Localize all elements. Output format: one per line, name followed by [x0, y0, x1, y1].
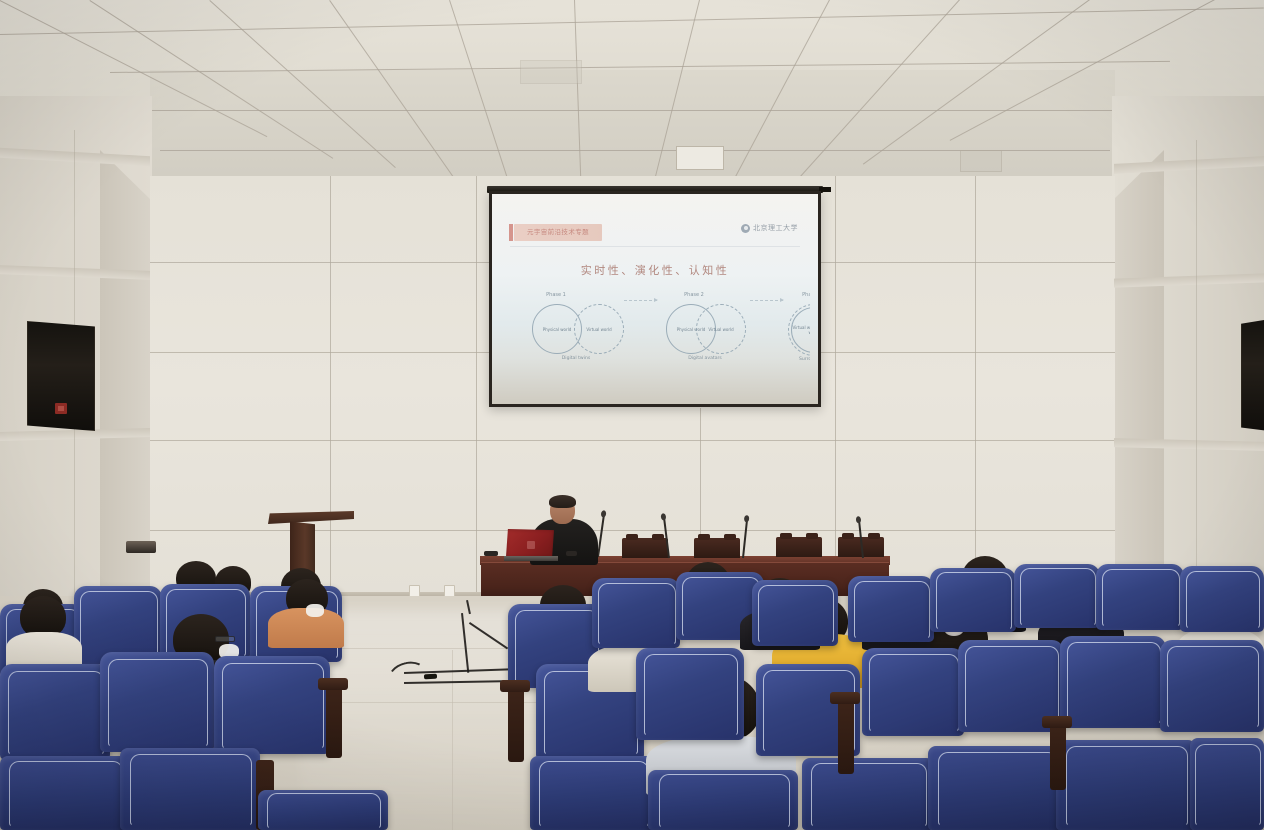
seat-armrest — [838, 700, 854, 774]
auditorium-seat[interactable] — [636, 648, 744, 740]
seat-armrest-pad — [830, 692, 860, 704]
lecture-hall-photo: 元宇宙前沿技术专题 北京理工大学 实时性、演化性、认知性 Phase 1 Phy… — [0, 0, 1264, 830]
phase-3-caption: Surrounding — [783, 357, 810, 362]
auditorium-seat[interactable] — [802, 758, 934, 830]
projection-screen: 元宇宙前沿技术专题 北京理工大学 实时性、演化性、认知性 Phase 1 Phy… — [489, 191, 821, 407]
ceiling-vent — [960, 150, 1002, 172]
phase-1-circle-virtual: Virtual world — [574, 304, 624, 354]
wall-seam — [1196, 140, 1197, 610]
ceiling-vent — [520, 60, 582, 84]
slide-header-band: 元宇宙前沿技术专题 — [514, 224, 602, 241]
seat-armrest-pad — [318, 678, 348, 690]
wall-seam — [150, 440, 1115, 441]
auditorium-seat[interactable] — [928, 746, 1066, 830]
slide-header-band-text: 元宇宙前沿技术专题 — [516, 226, 600, 236]
screen-surface: 元宇宙前沿技术专题 北京理工大学 实时性、演化性、认知性 Phase 1 Phy… — [492, 194, 818, 404]
table-device — [484, 551, 498, 556]
wall-seam — [835, 176, 836, 596]
seat-armrest — [508, 688, 524, 762]
auditorium-seat[interactable] — [0, 756, 130, 830]
auditorium-seat[interactable] — [752, 580, 838, 646]
phase-arrow-1 — [624, 298, 658, 303]
seat-armrest-pad — [1042, 716, 1072, 728]
floor-tile-seam — [452, 650, 453, 830]
laptop[interactable] — [504, 529, 556, 561]
slide-title: 实时性、演化性、认知性 — [500, 262, 810, 278]
auditorium-seat[interactable] — [1056, 740, 1196, 830]
auditorium-seat[interactable] — [1014, 564, 1100, 628]
seat-armrest — [1050, 724, 1066, 790]
wall-seam — [476, 176, 477, 596]
table-device — [566, 551, 577, 556]
auditorium-seat[interactable] — [930, 568, 1016, 632]
auditorium-seat[interactable] — [214, 656, 330, 754]
phase-2-caption: Digital avatars — [662, 356, 748, 361]
laptop-base — [504, 556, 558, 561]
ceiling-band — [150, 110, 1120, 111]
ledge-object — [126, 541, 156, 553]
slide-header-rule — [510, 246, 800, 247]
phase-1-caption: Digital twins — [530, 356, 622, 361]
auditorium-seat[interactable] — [1190, 738, 1264, 830]
seat-armrest — [326, 686, 342, 758]
table-chair[interactable] — [694, 538, 740, 558]
wall-speaker-left — [27, 321, 95, 431]
cable-connector — [424, 674, 437, 680]
auditorium-seat[interactable] — [0, 664, 110, 760]
auditorium-seat[interactable] — [1180, 566, 1264, 632]
auditorium-seat[interactable] — [100, 652, 214, 752]
phase-2-circle-virtual: Virtual world — [696, 304, 746, 354]
auditorium-seat[interactable] — [1060, 636, 1166, 728]
table-chair[interactable] — [776, 537, 822, 557]
ceiling — [0, 0, 1264, 196]
auditorium-seat[interactable] — [592, 578, 680, 648]
face-mask — [306, 604, 324, 617]
wall-seam — [975, 176, 976, 596]
laptop-logo — [527, 541, 535, 549]
auditorium-seat[interactable] — [530, 756, 656, 830]
auditorium-seat[interactable] — [862, 648, 964, 736]
ceiling-light-panel — [676, 146, 724, 170]
phase-arrow-2 — [750, 298, 784, 303]
phase-1-label: Phase 1 — [516, 292, 596, 298]
ceiling-band — [0, 8, 1264, 35]
presentation-slide: 元宇宙前沿技术专题 北京理工大学 实时性、演化性、认知性 Phase 1 Phy… — [500, 204, 810, 378]
auditorium-seat[interactable] — [1096, 564, 1184, 630]
eyeglasses — [215, 636, 235, 642]
podium-top — [268, 511, 354, 524]
auditorium-seat[interactable] — [120, 748, 260, 830]
phase-2-label: Phase 2 — [654, 292, 734, 298]
wall-speaker-right — [1241, 318, 1264, 432]
speaker-brand-badge — [55, 403, 67, 414]
auditorium-seat[interactable] — [648, 770, 798, 830]
institution-logo-text: 北京理工大学 — [753, 223, 798, 233]
table-chair[interactable] — [622, 538, 668, 558]
seat-armrest-pad — [500, 680, 530, 692]
laptop-lid — [506, 529, 554, 558]
phase-3-label: Phase 3 — [784, 292, 810, 298]
presenter-hair — [549, 495, 576, 508]
institution-logo-mark — [741, 224, 750, 233]
auditorium-seat[interactable] — [1160, 640, 1264, 732]
institution-logo: 北京理工大学 — [741, 223, 798, 233]
auditorium-seat[interactable] — [848, 576, 934, 642]
slide-diagram: Phase 1 Physical world Virtual world Dig… — [526, 292, 784, 370]
auditorium-seat[interactable] — [258, 790, 388, 830]
